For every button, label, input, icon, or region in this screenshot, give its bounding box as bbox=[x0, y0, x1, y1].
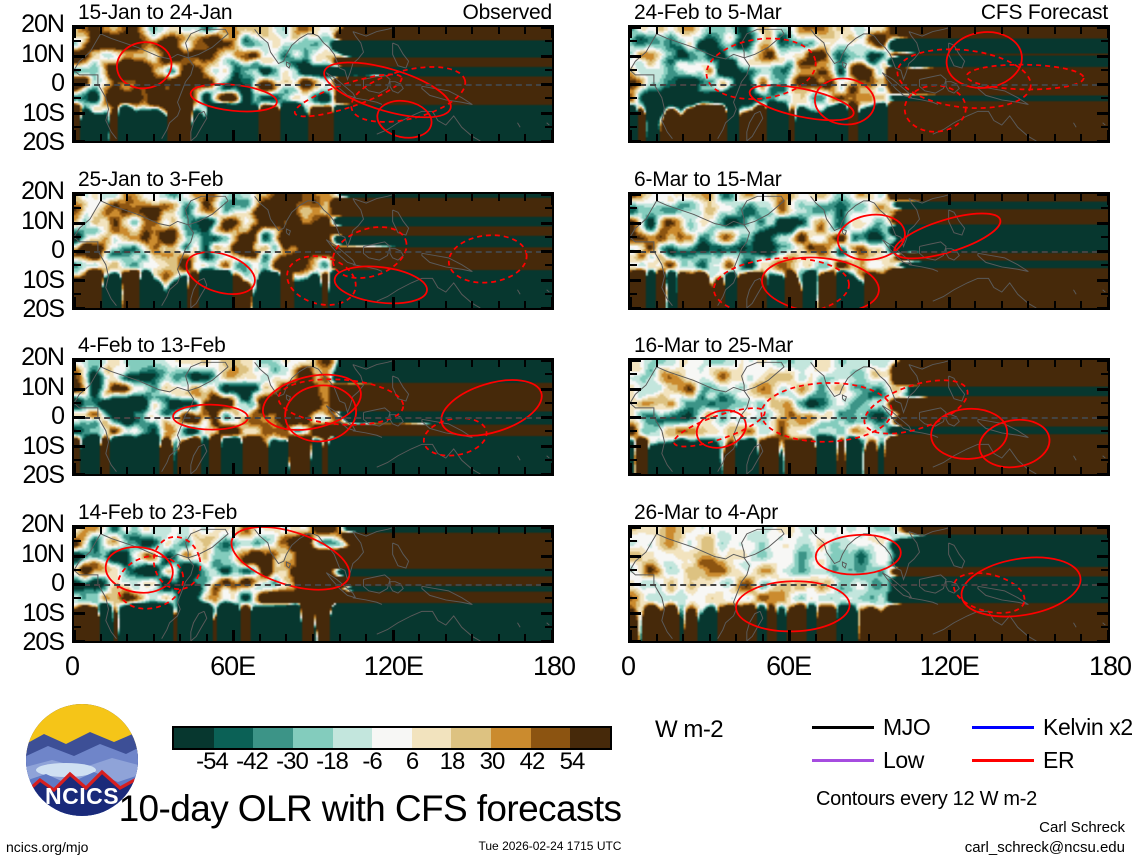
axis-tick bbox=[545, 293, 552, 295]
y-axis-tick-label: 10N bbox=[2, 542, 64, 567]
axis-tick bbox=[100, 360, 102, 367]
axis-tick bbox=[100, 301, 102, 308]
er-contour bbox=[692, 404, 752, 454]
axis-tick bbox=[895, 634, 897, 641]
axis-tick bbox=[815, 527, 817, 534]
axis-tick bbox=[153, 301, 155, 308]
axis-tick bbox=[545, 264, 552, 266]
axis-tick bbox=[1054, 301, 1056, 308]
axis-tick bbox=[541, 416, 552, 419]
axis-tick bbox=[541, 359, 552, 362]
axis-tick bbox=[285, 194, 287, 201]
axis-tick bbox=[392, 297, 395, 308]
axis-tick bbox=[682, 134, 684, 141]
axis-tick bbox=[179, 134, 181, 141]
y-axis-tick-label: 10S bbox=[2, 268, 64, 293]
axis-tick bbox=[541, 26, 552, 29]
axis-tick bbox=[74, 279, 85, 282]
axis-tick bbox=[868, 527, 870, 534]
axis-tick bbox=[1101, 402, 1108, 404]
axis-tick bbox=[868, 134, 870, 141]
axis-tick bbox=[74, 626, 81, 628]
axis-tick bbox=[630, 459, 637, 461]
map-plot-area bbox=[72, 192, 554, 310]
axis-tick bbox=[682, 27, 684, 34]
axis-tick bbox=[630, 97, 637, 99]
axis-tick bbox=[74, 26, 85, 29]
contour-interval-note: Contours every 12 W m-2 bbox=[816, 789, 1037, 809]
y-axis-tick-label: 10N bbox=[2, 375, 64, 400]
axis-tick bbox=[735, 527, 737, 534]
axis-tick bbox=[179, 194, 181, 201]
map-panel-title: 6-Mar to 15-Mar bbox=[634, 169, 782, 190]
axis-tick bbox=[312, 194, 314, 201]
axis-tick bbox=[74, 359, 85, 362]
colorbar-segment bbox=[333, 728, 373, 748]
axis-tick bbox=[1080, 301, 1082, 308]
axis-tick bbox=[445, 301, 447, 308]
axis-tick bbox=[630, 388, 641, 391]
axis-tick bbox=[948, 297, 951, 308]
axis-tick bbox=[948, 630, 951, 641]
axis-tick bbox=[762, 27, 764, 34]
er-contour bbox=[735, 580, 850, 633]
axis-tick bbox=[524, 301, 526, 308]
axis-tick bbox=[126, 467, 128, 474]
axis-tick bbox=[1027, 634, 1029, 641]
axis-tick bbox=[1054, 634, 1056, 641]
axis-tick bbox=[498, 301, 500, 308]
axis-tick bbox=[206, 634, 208, 641]
equator-line bbox=[630, 251, 1108, 253]
axis-tick bbox=[179, 634, 181, 641]
axis-tick bbox=[1097, 416, 1108, 419]
colorbar-segment bbox=[372, 728, 412, 748]
axis-tick bbox=[74, 373, 81, 375]
axis-tick bbox=[100, 634, 102, 641]
x-axis-tick-label: 60E bbox=[173, 653, 293, 680]
axis-tick bbox=[545, 126, 552, 128]
axis-tick bbox=[392, 194, 395, 205]
axis-tick bbox=[630, 55, 641, 58]
axis-tick bbox=[1097, 26, 1108, 29]
legend-item-kelvin-x2: Kelvin x2 bbox=[972, 716, 1133, 739]
axis-tick bbox=[471, 360, 473, 367]
axis-tick bbox=[74, 264, 81, 266]
axis-tick bbox=[74, 55, 85, 58]
axis-tick bbox=[126, 360, 128, 367]
axis-tick bbox=[815, 467, 817, 474]
axis-tick bbox=[974, 360, 976, 367]
axis-tick bbox=[709, 27, 711, 34]
axis-tick bbox=[841, 301, 843, 308]
axis-tick bbox=[815, 194, 817, 201]
axis-tick bbox=[1054, 134, 1056, 141]
axis-tick bbox=[841, 467, 843, 474]
axis-tick bbox=[974, 527, 976, 534]
legend-label: ER bbox=[1043, 749, 1074, 772]
y-axis-tick-label: 0 bbox=[2, 71, 64, 96]
axis-tick bbox=[285, 467, 287, 474]
axis-tick bbox=[1097, 526, 1108, 529]
axis-tick bbox=[285, 134, 287, 141]
axis-tick bbox=[709, 194, 711, 201]
axis-tick bbox=[392, 130, 395, 141]
axis-tick bbox=[815, 27, 817, 34]
axis-tick bbox=[656, 194, 658, 201]
axis-tick bbox=[545, 402, 552, 404]
axis-tick bbox=[762, 134, 764, 141]
axis-tick bbox=[630, 40, 637, 42]
axis-tick bbox=[1097, 222, 1108, 225]
axis-tick bbox=[312, 301, 314, 308]
axis-tick bbox=[921, 527, 923, 534]
axis-tick bbox=[100, 27, 102, 34]
er-contour bbox=[318, 51, 457, 128]
axis-tick bbox=[762, 360, 764, 367]
axis-tick bbox=[74, 140, 85, 143]
er-contour bbox=[894, 43, 1034, 115]
axis-tick bbox=[1097, 307, 1108, 310]
colorbar-segments bbox=[172, 726, 612, 750]
axis-tick bbox=[524, 360, 526, 367]
axis-tick bbox=[74, 112, 85, 115]
axis-tick bbox=[1001, 467, 1003, 474]
axis-tick bbox=[153, 634, 155, 641]
axis-tick bbox=[471, 527, 473, 534]
equator-line bbox=[630, 417, 1108, 419]
axis-tick bbox=[895, 301, 897, 308]
map-plot-area bbox=[628, 358, 1110, 476]
y-axis-tick-label: 0 bbox=[2, 571, 64, 596]
x-axis-tick-label: 0 bbox=[568, 653, 688, 680]
axis-tick bbox=[630, 373, 637, 375]
er-contour bbox=[670, 401, 768, 454]
axis-tick bbox=[392, 630, 395, 641]
axis-tick bbox=[312, 27, 314, 34]
axis-tick bbox=[471, 134, 473, 141]
axis-tick bbox=[312, 360, 314, 367]
map-panel-column-header: Observed bbox=[463, 2, 552, 23]
x-axis-tick-label: 120E bbox=[889, 653, 1009, 680]
y-axis-tick-label: 20S bbox=[2, 463, 64, 488]
equator-line bbox=[74, 251, 552, 253]
axis-tick bbox=[1001, 527, 1003, 534]
axis-tick bbox=[74, 430, 81, 432]
axis-tick bbox=[974, 27, 976, 34]
legend-line-swatch bbox=[972, 726, 1034, 729]
axis-tick bbox=[1101, 626, 1108, 628]
x-axis-tick-label: 180 bbox=[1050, 653, 1135, 680]
legend-line-swatch bbox=[812, 759, 874, 762]
axis-tick bbox=[541, 526, 552, 529]
axis-tick bbox=[74, 83, 85, 86]
legend-line-swatch bbox=[812, 726, 874, 729]
map-panel-title: 26-Mar to 4-Apr bbox=[634, 502, 778, 523]
axis-tick bbox=[418, 360, 420, 367]
axis-tick bbox=[656, 527, 658, 534]
axis-tick bbox=[541, 388, 552, 391]
axis-tick bbox=[541, 140, 552, 143]
axis-tick bbox=[545, 236, 552, 238]
er-contour bbox=[761, 381, 893, 443]
y-axis-tick-label: 10S bbox=[2, 101, 64, 126]
axis-tick bbox=[339, 27, 341, 34]
axis-tick bbox=[921, 360, 923, 367]
axis-tick bbox=[445, 134, 447, 141]
axis-tick bbox=[1001, 134, 1003, 141]
axis-tick bbox=[545, 597, 552, 599]
axis-tick bbox=[339, 360, 341, 367]
axis-tick bbox=[545, 626, 552, 628]
axis-tick bbox=[365, 527, 367, 534]
axis-tick bbox=[498, 27, 500, 34]
axis-tick bbox=[74, 445, 85, 448]
colorbar-segment bbox=[253, 728, 293, 748]
axis-tick bbox=[630, 307, 641, 310]
map-panel-title: 4-Feb to 13-Feb bbox=[78, 335, 226, 356]
axis-tick bbox=[630, 264, 637, 266]
axis-tick bbox=[1097, 612, 1108, 615]
axis-tick bbox=[285, 27, 287, 34]
er-contour bbox=[332, 262, 429, 308]
axis-tick bbox=[498, 134, 500, 141]
axis-tick bbox=[1054, 360, 1056, 367]
equator-line bbox=[630, 584, 1108, 586]
legend-label: MJO bbox=[883, 716, 930, 739]
axis-tick bbox=[206, 527, 208, 534]
axis-tick bbox=[735, 134, 737, 141]
axis-tick bbox=[524, 27, 526, 34]
axis-tick bbox=[285, 634, 287, 641]
axis-tick bbox=[682, 194, 684, 201]
axis-tick bbox=[735, 194, 737, 201]
axis-tick bbox=[921, 27, 923, 34]
axis-tick bbox=[74, 207, 81, 209]
equator-line bbox=[74, 417, 552, 419]
axis-tick bbox=[126, 134, 128, 141]
axis-tick bbox=[74, 126, 81, 128]
axis-tick bbox=[1097, 473, 1108, 476]
equator-line bbox=[630, 84, 1108, 86]
axis-tick bbox=[1101, 569, 1108, 571]
axis-tick bbox=[232, 463, 235, 474]
axis-tick bbox=[471, 467, 473, 474]
map-plot-area bbox=[72, 525, 554, 643]
axis-tick bbox=[921, 634, 923, 641]
axis-tick bbox=[841, 634, 843, 641]
axis-tick bbox=[788, 130, 791, 141]
axis-tick bbox=[1097, 640, 1108, 643]
axis-tick bbox=[365, 634, 367, 641]
axis-tick bbox=[471, 634, 473, 641]
axis-tick bbox=[921, 194, 923, 201]
axis-tick bbox=[1027, 360, 1029, 367]
axis-tick bbox=[259, 360, 261, 367]
map-panel-3: 14-Feb to 23-Feb bbox=[72, 525, 554, 643]
axis-tick bbox=[232, 297, 235, 308]
y-axis-tick-label: 0 bbox=[2, 404, 64, 429]
legend-line-swatch bbox=[972, 759, 1034, 762]
axis-tick bbox=[498, 467, 500, 474]
axis-tick bbox=[445, 27, 447, 34]
equator-line bbox=[74, 584, 552, 586]
author-email: carl_schreck@ncsu.edu bbox=[965, 840, 1125, 855]
axis-tick bbox=[1097, 583, 1108, 586]
axis-tick bbox=[471, 301, 473, 308]
map-panel-1: 25-Jan to 3-Feb bbox=[72, 192, 554, 310]
axis-tick bbox=[709, 360, 711, 367]
axis-tick bbox=[259, 194, 261, 201]
axis-tick bbox=[709, 634, 711, 641]
axis-tick bbox=[179, 27, 181, 34]
axis-tick bbox=[1080, 467, 1082, 474]
axis-tick bbox=[948, 360, 951, 371]
axis-tick bbox=[74, 640, 85, 643]
axis-tick bbox=[656, 301, 658, 308]
er-contour bbox=[446, 231, 529, 287]
axis-tick bbox=[788, 194, 791, 205]
svg-text:NCICS: NCICS bbox=[45, 783, 119, 809]
y-axis-tick-label: 20S bbox=[2, 630, 64, 655]
colorbar-segment bbox=[491, 728, 531, 748]
axis-tick bbox=[1101, 264, 1108, 266]
axis-tick bbox=[762, 301, 764, 308]
axis-tick bbox=[948, 463, 951, 474]
axis-tick bbox=[365, 194, 367, 201]
axis-tick bbox=[259, 134, 261, 141]
map-panel-5: 6-Mar to 15-Mar bbox=[628, 192, 1110, 310]
axis-tick bbox=[418, 301, 420, 308]
axis-tick bbox=[788, 297, 791, 308]
axis-tick bbox=[1097, 359, 1108, 362]
axis-tick bbox=[206, 27, 208, 34]
er-contour bbox=[103, 543, 176, 597]
axis-tick bbox=[630, 526, 641, 529]
axis-tick bbox=[1027, 301, 1029, 308]
axis-tick bbox=[285, 360, 287, 367]
axis-tick bbox=[153, 194, 155, 201]
axis-tick bbox=[1097, 279, 1108, 282]
colorbar-segment bbox=[214, 728, 254, 748]
axis-tick bbox=[841, 527, 843, 534]
y-axis-tick-label: 20N bbox=[2, 179, 64, 204]
axis-tick bbox=[206, 134, 208, 141]
axis-tick bbox=[1101, 597, 1108, 599]
axis-tick bbox=[630, 626, 637, 628]
axis-tick bbox=[1097, 445, 1108, 448]
axis-tick bbox=[74, 388, 85, 391]
axis-tick bbox=[868, 634, 870, 641]
axis-tick bbox=[1097, 250, 1108, 253]
y-axis-tick-label: 10N bbox=[2, 209, 64, 234]
axis-tick bbox=[339, 194, 341, 201]
y-axis-tick-label: 10S bbox=[2, 434, 64, 459]
axis-tick bbox=[1101, 126, 1108, 128]
axis-tick bbox=[895, 527, 897, 534]
axis-tick bbox=[179, 467, 181, 474]
axis-tick bbox=[762, 467, 764, 474]
axis-tick bbox=[541, 640, 552, 643]
map-panel-4: 24-Feb to 5-MarCFS Forecast bbox=[628, 25, 1110, 143]
timestamp: Tue 2026-02-24 1715 UTC bbox=[400, 840, 700, 852]
axis-tick bbox=[418, 634, 420, 641]
axis-tick bbox=[630, 112, 641, 115]
axis-tick bbox=[74, 40, 81, 42]
y-axis-tick-label: 20N bbox=[2, 512, 64, 537]
axis-tick bbox=[232, 527, 235, 538]
axis-tick bbox=[630, 359, 641, 362]
axis-tick bbox=[365, 360, 367, 367]
axis-tick bbox=[709, 134, 711, 141]
axis-tick bbox=[126, 634, 128, 641]
er-contour bbox=[703, 32, 820, 105]
axis-tick bbox=[815, 634, 817, 641]
axis-tick bbox=[74, 459, 81, 461]
axis-tick bbox=[868, 301, 870, 308]
y-axis-tick-label: 20N bbox=[2, 12, 64, 37]
axis-tick bbox=[365, 27, 367, 34]
legend-label: Low bbox=[883, 749, 924, 772]
axis-tick bbox=[948, 527, 951, 538]
axis-tick bbox=[541, 279, 552, 282]
axis-tick bbox=[545, 540, 552, 542]
axis-tick bbox=[445, 360, 447, 367]
map-panel-title: 14-Feb to 23-Feb bbox=[78, 502, 237, 523]
axis-tick bbox=[498, 527, 500, 534]
axis-tick bbox=[100, 134, 102, 141]
axis-tick bbox=[656, 27, 658, 34]
axis-tick bbox=[74, 307, 85, 310]
er-contour bbox=[976, 415, 1054, 473]
axis-tick bbox=[921, 134, 923, 141]
x-axis-tick-label: 0 bbox=[12, 653, 132, 680]
axis-tick bbox=[545, 569, 552, 571]
axis-tick bbox=[1001, 634, 1003, 641]
axis-tick bbox=[74, 222, 85, 225]
axis-tick bbox=[868, 360, 870, 367]
axis-tick bbox=[471, 194, 473, 201]
axis-tick bbox=[630, 279, 641, 282]
axis-tick bbox=[365, 301, 367, 308]
axis-tick bbox=[74, 526, 85, 529]
axis-tick bbox=[815, 360, 817, 367]
axis-tick bbox=[74, 583, 85, 586]
er-contour bbox=[966, 64, 1083, 91]
legend-item-mjo: MJO bbox=[812, 716, 930, 739]
axis-tick bbox=[206, 467, 208, 474]
axis-tick bbox=[541, 612, 552, 615]
axis-tick bbox=[232, 630, 235, 641]
axis-tick bbox=[418, 194, 420, 201]
map-plot-area bbox=[72, 25, 554, 143]
axis-tick bbox=[74, 473, 85, 476]
map-panel-2: 4-Feb to 13-Feb bbox=[72, 358, 554, 476]
axis-tick bbox=[788, 463, 791, 474]
axis-tick bbox=[895, 360, 897, 367]
axis-tick bbox=[630, 293, 637, 295]
axis-tick bbox=[762, 634, 764, 641]
colorbar-segment bbox=[570, 728, 610, 748]
axis-tick bbox=[630, 236, 637, 238]
er-contour bbox=[374, 96, 435, 141]
axis-tick bbox=[339, 467, 341, 474]
axis-tick bbox=[1054, 527, 1056, 534]
axis-tick bbox=[392, 527, 395, 538]
axis-tick bbox=[841, 27, 843, 34]
axis-tick bbox=[259, 27, 261, 34]
map-panel-6: 16-Mar to 25-Mar bbox=[628, 358, 1110, 476]
